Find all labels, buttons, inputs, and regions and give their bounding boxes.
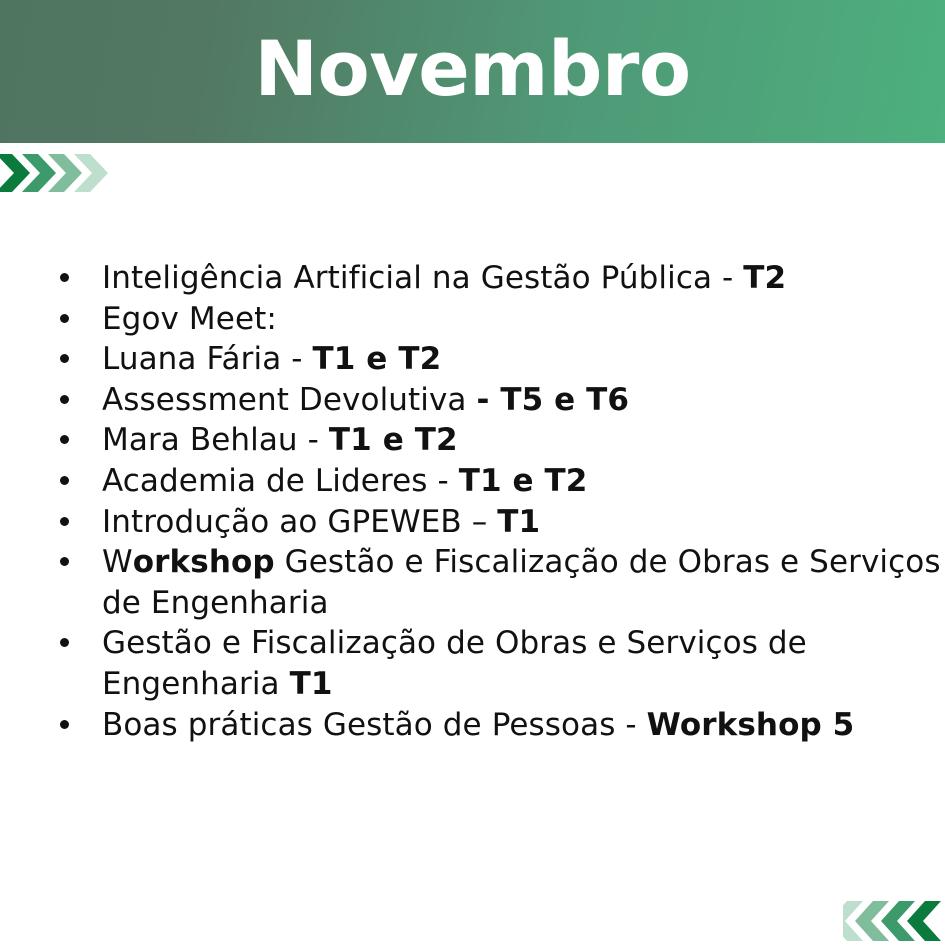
bullet-icon [60,720,69,729]
list-item: Inteligência Artificial na Gestão Públic… [0,258,945,299]
list-item-text-bold-6: T1 e T2 [459,463,588,499]
list-item: Gestão e Fiscalização de Obras e Serviço… [0,623,945,704]
bullet-icon [60,354,69,363]
bullet-icon [60,395,69,404]
list-item-text-bold-10: Workshop 5 [647,707,855,743]
list-item-text-plain-6: Academia de Lideres - [102,463,459,499]
bullet-icon [60,435,69,444]
bullet-icon [60,557,69,566]
list-item: Luana Fária - T1 e T2 [0,339,945,380]
list-item-text-plain-4: Assessment Devolutiva [102,382,477,418]
bullet-icon [60,273,69,282]
list-item-text-plain-7: Introdução ao GPEWEB – [102,504,497,540]
bullet-icon [60,517,69,526]
list-item: Mara Behlau - T1 e T2 [0,420,945,461]
chevron-right-decoration-icon [0,154,116,192]
list-item: Assessment Devolutiva - T5 e T6 [0,380,945,421]
list-item-text-bold-4: - T5 e T6 [477,382,630,418]
list-item-text-plain-3: Luana Fária - [102,341,313,377]
page-title: Novembro [254,31,690,113]
list-item-text-bold-5: T1 e T2 [329,422,458,458]
list-item-text-plain-2: Egov Meet: [102,301,277,337]
list-item-text-bold-8: orkshop [133,544,275,580]
list-item-text-plain-1: Inteligência Artificial na Gestão Públic… [102,260,743,296]
agenda-list: Inteligência Artificial na Gestão Públic… [0,258,945,745]
list-item-text-bold-1: T2 [743,260,786,296]
list-item: Egov Meet: [0,299,945,340]
list-item-text-bold-7: T1 [497,504,540,540]
list-item-text-bold-9: T1 [290,666,333,702]
list-item: Boas práticas Gestão de Pessoas - Worksh… [0,705,945,746]
list-item-text-plain-5: Mara Behlau - [102,422,329,458]
list-item: Workshop Gestão e Fiscalização de Obras … [0,542,945,623]
bullet-icon [60,476,69,485]
list-item-text-plain-8a: W [102,544,133,580]
header-banner: Novembro [0,0,945,143]
bullet-icon [60,314,69,323]
list-item-text-plain-9: Gestão e Fiscalização de Obras e Serviço… [102,625,807,702]
list-item: Academia de Lideres - T1 e T2 [0,461,945,502]
list-item: Introdução ao GPEWEB – T1 [0,502,945,543]
bullet-icon [60,638,69,647]
chevron-left-decoration-icon [843,901,945,941]
list-item-text-plain-10: Boas práticas Gestão de Pessoas - [102,707,647,743]
list-item-text-bold-3: T1 e T2 [313,341,442,377]
